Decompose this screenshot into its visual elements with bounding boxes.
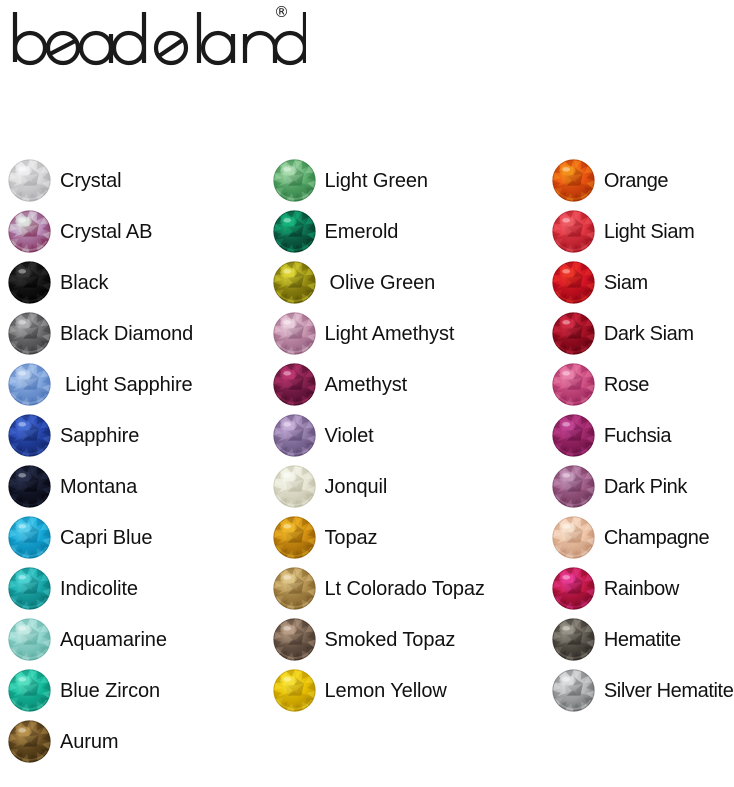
swatch-row[interactable]: Emerold	[273, 206, 542, 257]
brand-logo	[6, 6, 306, 78]
swatch-label: Smoked Topaz	[325, 629, 456, 651]
swatch-label: Olive Green	[330, 272, 436, 294]
swatch-label: Emerold	[325, 221, 399, 243]
rhinestone-gem-icon	[8, 720, 51, 763]
swatch-label: Dark Pink	[604, 476, 687, 498]
swatch-row[interactable]: Orange	[552, 155, 734, 206]
rhinestone-gem-icon	[552, 312, 595, 355]
rhinestone-gem-icon	[273, 618, 316, 661]
swatch-label: Black Diamond	[60, 323, 193, 345]
swatch-label: Blue Zircon	[60, 680, 160, 702]
swatch-label: Violet	[325, 425, 374, 447]
swatch-row[interactable]: Topaz	[273, 512, 542, 563]
swatch-row[interactable]: Montana	[8, 461, 268, 512]
swatch-row[interactable]: Fuchsia	[552, 410, 734, 461]
swatch-row[interactable]: Sapphire	[8, 410, 268, 461]
rhinestone-gem-icon	[8, 210, 51, 253]
rhinestone-gem-icon	[273, 159, 316, 202]
swatch-column-1: Light GreenEmeroldOlive GreenLight Ameth…	[268, 155, 542, 716]
rhinestone-gem-icon	[8, 669, 51, 712]
swatch-label: Silver Hematite	[604, 680, 734, 702]
rhinestone-gem-icon	[273, 363, 316, 406]
swatch-row[interactable]: Light Green	[273, 155, 542, 206]
swatch-label: Aurum	[60, 731, 118, 753]
rhinestone-gem-icon	[552, 414, 595, 457]
swatch-row[interactable]: Jonquil	[273, 461, 542, 512]
swatch-row[interactable]: Dark Pink	[552, 461, 734, 512]
swatch-row[interactable]: Black Diamond	[8, 308, 268, 359]
swatch-label: Capri Blue	[60, 527, 152, 549]
rhinestone-gem-icon	[552, 618, 595, 661]
swatch-label: Light Siam	[604, 221, 695, 243]
swatch-label: Sapphire	[60, 425, 139, 447]
rhinestone-gem-icon	[8, 159, 51, 202]
swatch-label: Orange	[604, 170, 668, 192]
swatch-row[interactable]: Lt Colorado Topaz	[273, 563, 542, 614]
swatch-row[interactable]: Crystal	[8, 155, 268, 206]
swatch-row[interactable]: Violet	[273, 410, 542, 461]
swatch-row[interactable]: Hematite	[552, 614, 734, 665]
swatch-label: Light Sapphire	[65, 374, 193, 396]
swatch-row[interactable]: Amethyst	[273, 359, 542, 410]
rhinestone-gem-icon	[552, 261, 595, 304]
swatch-row[interactable]: Light Amethyst	[273, 308, 542, 359]
rhinestone-gem-icon	[273, 516, 316, 559]
swatch-label: Montana	[60, 476, 137, 498]
rhinestone-gem-icon	[552, 567, 595, 610]
swatch-label: Champagne	[604, 527, 709, 549]
swatch-label: Crystal	[60, 170, 122, 192]
swatch-row[interactable]: Olive Green	[273, 257, 542, 308]
rhinestone-gem-icon	[273, 414, 316, 457]
swatch-label: Indicolite	[60, 578, 138, 600]
swatch-label: Topaz	[325, 527, 378, 549]
rhinestone-gem-icon	[8, 312, 51, 355]
swatch-column-0: CrystalCrystal ABBlackBlack DiamondLight…	[0, 155, 268, 767]
swatch-label: Aquamarine	[60, 629, 167, 651]
swatch-row[interactable]: Dark Siam	[552, 308, 734, 359]
swatch-row[interactable]: Rose	[552, 359, 734, 410]
rhinestone-gem-icon	[552, 465, 595, 508]
swatch-row[interactable]: Indicolite	[8, 563, 268, 614]
rhinestone-gem-icon	[8, 261, 51, 304]
swatch-label: Dark Siam	[604, 323, 694, 345]
rhinestone-gem-icon	[8, 516, 51, 559]
swatch-column-2: OrangeLight SiamSiamDark SiamRoseFuchsia…	[542, 155, 734, 716]
swatch-label: Black	[60, 272, 108, 294]
rhinestone-gem-icon	[273, 210, 316, 253]
swatch-row[interactable]: Aurum	[8, 716, 268, 767]
swatch-label: Light Amethyst	[325, 323, 455, 345]
swatch-row[interactable]: Smoked Topaz	[273, 614, 542, 665]
swatch-label: Light Green	[325, 170, 428, 192]
swatch-label: Rainbow	[604, 578, 679, 600]
swatch-label: Rose	[604, 374, 649, 396]
swatch-row[interactable]: Rainbow	[552, 563, 734, 614]
rhinestone-gem-icon	[552, 159, 595, 202]
rhinestone-gem-icon	[8, 618, 51, 661]
swatch-row[interactable]: Lemon Yellow	[273, 665, 542, 716]
rhinestone-gem-icon	[273, 669, 316, 712]
swatch-row[interactable]: Champagne	[552, 512, 734, 563]
swatch-row[interactable]: Aquamarine	[8, 614, 268, 665]
rhinestone-gem-icon	[273, 567, 316, 610]
rhinestone-color-grid: CrystalCrystal ABBlackBlack DiamondLight…	[0, 155, 734, 767]
rhinestone-gem-icon	[552, 669, 595, 712]
swatch-label: Hematite	[604, 629, 681, 651]
swatch-row[interactable]: Siam	[552, 257, 734, 308]
swatch-label: Lemon Yellow	[325, 680, 447, 702]
swatch-label: Siam	[604, 272, 648, 294]
rhinestone-gem-icon	[273, 465, 316, 508]
swatch-row[interactable]: Crystal AB	[8, 206, 268, 257]
rhinestone-gem-icon	[552, 516, 595, 559]
swatch-row[interactable]: Blue Zircon	[8, 665, 268, 716]
rhinestone-gem-icon	[8, 567, 51, 610]
rhinestone-gem-icon	[8, 363, 51, 406]
swatch-label: Crystal AB	[60, 221, 152, 243]
swatch-label: Amethyst	[325, 374, 408, 396]
rhinestone-gem-icon	[8, 414, 51, 457]
rhinestone-gem-icon	[552, 210, 595, 253]
swatch-row[interactable]: Light Sapphire	[8, 359, 268, 410]
rhinestone-gem-icon	[552, 363, 595, 406]
swatch-label: Jonquil	[325, 476, 388, 498]
registered-trademark-icon: ®	[274, 5, 289, 20]
swatch-row[interactable]: Light Siam	[552, 206, 734, 257]
rhinestone-gem-icon	[273, 312, 316, 355]
swatch-row[interactable]: Capri Blue	[8, 512, 268, 563]
swatch-label: Fuchsia	[604, 425, 671, 447]
swatch-row[interactable]: Black	[8, 257, 268, 308]
rhinestone-gem-icon	[273, 261, 316, 304]
rhinestone-gem-icon	[8, 465, 51, 508]
swatch-label: Lt Colorado Topaz	[325, 578, 485, 600]
swatch-row[interactable]: Silver Hematite	[552, 665, 734, 716]
